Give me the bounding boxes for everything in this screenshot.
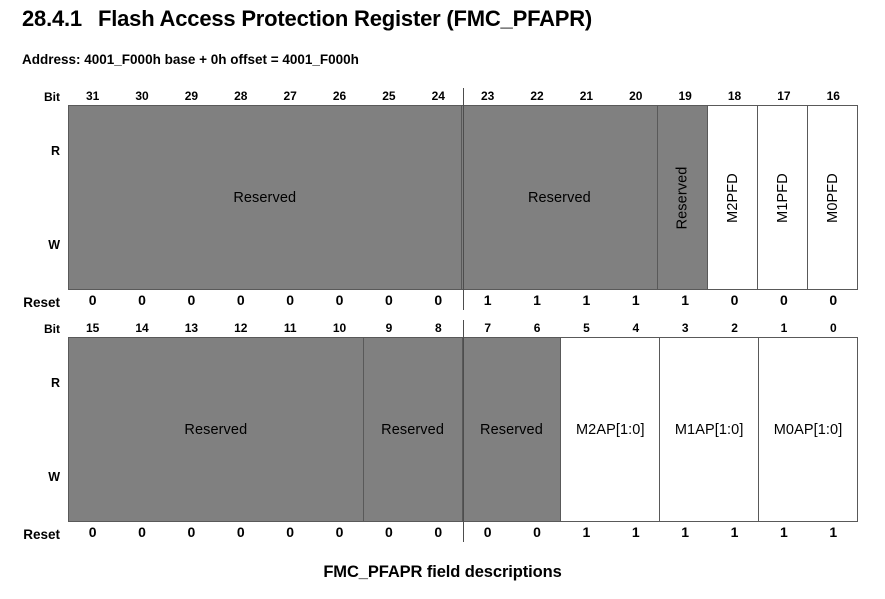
table-caption: FMC_PFAPR field descriptions: [0, 563, 885, 582]
register-field-reserved: Reserved: [69, 338, 364, 521]
register-field-reserved: Reserved: [69, 106, 462, 289]
bit-number: 13: [167, 320, 216, 337]
bit-number: 7: [463, 320, 512, 337]
reset-value: 0: [463, 522, 512, 542]
bit-number: 14: [117, 320, 166, 337]
reset-value: 1: [759, 522, 808, 542]
field-label: Reserved: [184, 422, 247, 438]
bit-number: 24: [414, 88, 463, 105]
register-field-reserved: Reserved: [463, 338, 562, 521]
register-field-m1pfd[interactable]: M1PFD: [758, 106, 808, 289]
register-field-reserved: Reserved: [364, 338, 463, 521]
section-number: 28.4.1: [22, 6, 98, 32]
reset-value: 0: [167, 522, 216, 542]
bit-number: 11: [266, 320, 315, 337]
bit-number: 16: [809, 88, 858, 105]
field-label: M0AP[1:0]: [774, 422, 843, 438]
field-label: Reserved: [480, 422, 543, 438]
reset-value: 1: [661, 522, 710, 542]
field-label: M2PFD: [725, 173, 741, 223]
register-field-m0ap-1-0[interactable]: M0AP[1:0]: [759, 338, 857, 521]
reset-row-label: Reset: [0, 295, 60, 310]
bit-number: 21: [562, 88, 611, 105]
write-row-label: W: [8, 238, 60, 252]
section-title-text: Flash Access Protection Register (FMC_PF…: [98, 6, 592, 31]
bit-number: 30: [117, 88, 166, 105]
reset-row-label: Reset: [0, 527, 60, 542]
reset-value: 1: [809, 522, 858, 542]
reset-value: 1: [661, 290, 710, 310]
register-field-m2ap-1-0[interactable]: M2AP[1:0]: [561, 338, 660, 521]
register-field-m2pfd[interactable]: M2PFD: [708, 106, 758, 289]
bit-number: 6: [512, 320, 561, 337]
bit-number: 17: [759, 88, 808, 105]
register-field-reserved: Reserved: [658, 106, 708, 289]
reset-value: 0: [117, 290, 166, 310]
field-label: Reserved: [528, 190, 591, 206]
bit-row-label: Bit: [8, 90, 60, 104]
reset-value: 0: [315, 522, 364, 542]
bit-row-label: Bit: [8, 322, 60, 336]
reset-value: 1: [562, 522, 611, 542]
reset-value: 0: [167, 290, 216, 310]
reset-value: 0: [364, 290, 413, 310]
reset-value: 0: [512, 522, 561, 542]
read-row-label: R: [8, 376, 60, 390]
reset-value: 0: [315, 290, 364, 310]
register-field-m0pfd[interactable]: M0PFD: [808, 106, 857, 289]
reset-value: 1: [611, 290, 660, 310]
reset-value: 0: [68, 290, 117, 310]
bit-number: 27: [266, 88, 315, 105]
reset-value: 0: [266, 522, 315, 542]
bit-number: 2: [710, 320, 759, 337]
bit-number: 25: [364, 88, 413, 105]
bit-number: 22: [512, 88, 561, 105]
reset-value: 1: [611, 522, 660, 542]
reset-value: 1: [463, 290, 512, 310]
bit-number: 15: [68, 320, 117, 337]
register-field-reserved: Reserved: [462, 106, 659, 289]
field-label: Reserved: [233, 190, 296, 206]
page-title: 28.4.1Flash Access Protection Register (…: [22, 6, 592, 32]
reset-value: 1: [512, 290, 561, 310]
reset-value: 0: [364, 522, 413, 542]
reset-value: 0: [414, 522, 463, 542]
bit-number: 4: [611, 320, 660, 337]
field-label: M0PFD: [825, 173, 841, 223]
halfword-divider-high: [463, 88, 464, 310]
bit-number: 20: [611, 88, 660, 105]
field-label: M1AP[1:0]: [675, 422, 744, 438]
field-label: M2AP[1:0]: [576, 422, 645, 438]
field-label: Reserved: [381, 422, 444, 438]
bit-number: 28: [216, 88, 265, 105]
bit-number: 8: [414, 320, 463, 337]
bit-number: 29: [167, 88, 216, 105]
bit-number: 9: [364, 320, 413, 337]
reset-value: 0: [414, 290, 463, 310]
reset-value: 0: [759, 290, 808, 310]
field-label: M1PFD: [775, 173, 791, 223]
reset-value: 0: [216, 290, 265, 310]
bit-number: 0: [809, 320, 858, 337]
bit-number: 26: [315, 88, 364, 105]
reset-value: 0: [117, 522, 166, 542]
bit-number: 10: [315, 320, 364, 337]
bit-number: 5: [562, 320, 611, 337]
register-address-line: Address: 4001_F000h base + 0h offset = 4…: [22, 52, 359, 67]
read-row-label: R: [8, 144, 60, 158]
reset-value: 0: [710, 290, 759, 310]
bit-number: 1: [759, 320, 808, 337]
bit-number: 31: [68, 88, 117, 105]
bit-number: 18: [710, 88, 759, 105]
halfword-divider-low: [463, 320, 464, 542]
bit-number: 12: [216, 320, 265, 337]
reset-value: 0: [809, 290, 858, 310]
reset-value: 0: [216, 522, 265, 542]
reset-value: 0: [266, 290, 315, 310]
write-row-label: W: [8, 470, 60, 484]
register-field-m1ap-1-0[interactable]: M1AP[1:0]: [660, 338, 759, 521]
bit-number: 23: [463, 88, 512, 105]
bit-number: 3: [661, 320, 710, 337]
reset-value: 0: [68, 522, 117, 542]
reset-value: 1: [710, 522, 759, 542]
bit-number: 19: [661, 88, 710, 105]
reset-value: 1: [562, 290, 611, 310]
field-label: Reserved: [675, 166, 691, 229]
